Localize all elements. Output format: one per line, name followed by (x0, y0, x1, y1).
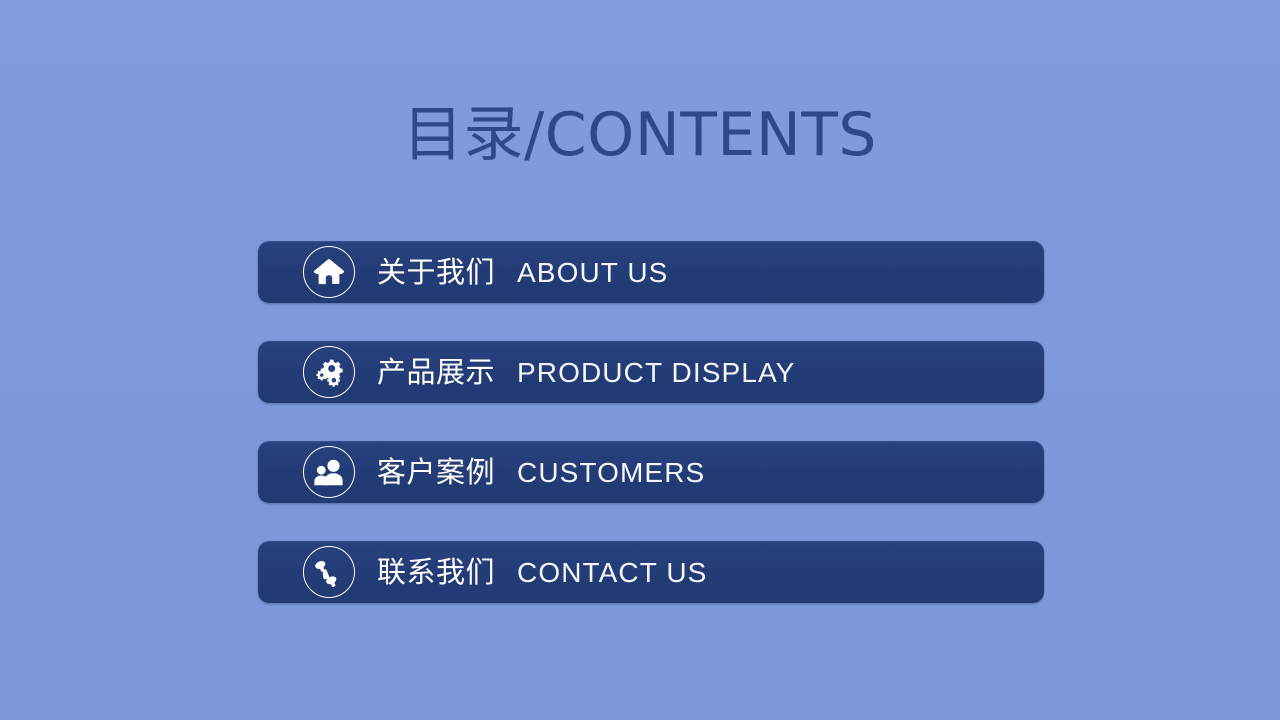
menu-item-label-en: PRODUCT DISPLAY (517, 356, 795, 390)
menu-item-labels: 产品展示 PRODUCT DISPLAY (377, 355, 795, 390)
gears-icon (303, 346, 355, 398)
menu-item-label-en: ABOUT US (517, 256, 668, 290)
contents-slide: 目录/CONTENTS 关于我们 ABOUT US (0, 0, 1280, 720)
menu-item-label-cn: 联系我们 (377, 555, 495, 589)
menu-item-about-us[interactable]: 关于我们 ABOUT US (258, 241, 1044, 303)
menu-item-label-cn: 客户案例 (377, 455, 495, 489)
menu-item-label-cn: 关于我们 (377, 255, 495, 289)
menu-item-product-display[interactable]: 产品展示 PRODUCT DISPLAY (258, 341, 1044, 403)
menu-item-label-cn: 产品展示 (377, 355, 495, 389)
contents-menu: 关于我们 ABOUT US (258, 241, 1044, 603)
users-icon (303, 446, 355, 498)
page-title: 目录/CONTENTS (0, 96, 1280, 174)
menu-item-label-en: CONTACT US (517, 556, 707, 590)
menu-item-customers[interactable]: 客户案例 CUSTOMERS (258, 441, 1044, 503)
menu-item-labels: 客户案例 CUSTOMERS (377, 455, 705, 490)
menu-item-labels: 关于我们 ABOUT US (377, 255, 668, 290)
home-icon (303, 246, 355, 298)
menu-item-contact-us[interactable]: 联系我们 CONTACT US (258, 541, 1044, 603)
menu-item-label-en: CUSTOMERS (517, 456, 705, 490)
menu-item-labels: 联系我们 CONTACT US (377, 555, 707, 590)
phone-icon (303, 546, 355, 598)
